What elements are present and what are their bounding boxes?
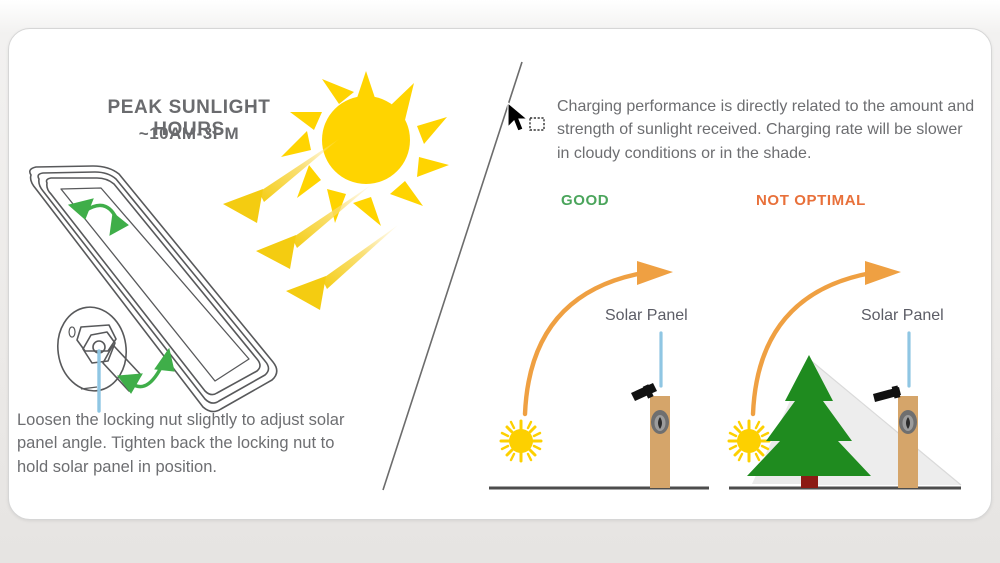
not-optimal-scenario-illustration — [729, 261, 961, 488]
light-post-bad — [898, 396, 918, 488]
sun-icon-large — [281, 71, 449, 226]
curved-arrow-icon-good — [525, 273, 643, 414]
adjust-arrow-head-low-right — [155, 349, 174, 371]
adjust-arrow-head-up — [69, 199, 93, 219]
not-optimal-label: NOT OPTIMAL — [756, 192, 866, 209]
infographic-card: PEAK SUNLIGHT HOURS ~10AM-3PM Loosen the… — [8, 28, 992, 520]
sun-icon-good — [501, 421, 541, 461]
charging-performance-paragraph: Charging performance is directly related… — [557, 95, 977, 165]
solar-panel-label-good: Solar Panel — [605, 307, 688, 325]
ray-arrow-head-1 — [223, 189, 263, 223]
ray-arrow-head-2 — [256, 235, 296, 269]
good-label: GOOD — [561, 192, 609, 209]
tilt-adjust-arrows — [69, 199, 174, 393]
sun-icon-bad — [729, 421, 769, 461]
ray-arrow-head-3 — [286, 276, 326, 310]
locking-nut-instructions: Loosen the locking nut slightly to adjus… — [17, 409, 347, 479]
good-scenario-illustration — [489, 261, 709, 488]
solar-panel-label-not-optimal: Solar Panel — [861, 307, 944, 325]
peak-sunlight-hours-range: ~10AM-3PM — [69, 124, 309, 144]
light-post-good — [650, 396, 670, 488]
